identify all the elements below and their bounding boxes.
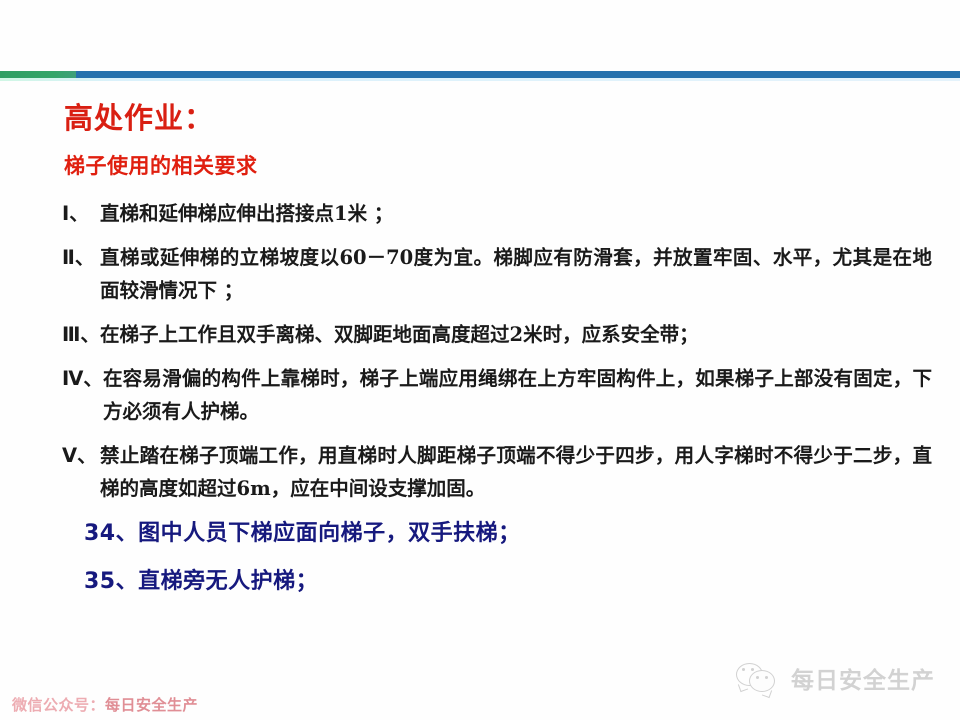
top-divider-rule xyxy=(0,71,960,78)
finding-item-34: 34、图中人员下梯应面向梯子，双手扶梯； xyxy=(84,519,884,549)
list-item-text: 直梯和延伸梯应伸出搭接点1米 ； xyxy=(100,197,932,230)
list-item: Ⅲ、 在梯子上工作且双手离梯、双脚距地面高度超过2米时，应系安全带； xyxy=(62,318,932,351)
wechat-icon-dot xyxy=(756,676,759,679)
wechat-icon xyxy=(736,661,782,695)
watermark: 每日安全生产 xyxy=(736,661,935,695)
list-item-text: 在容易滑偏的构件上靠梯时，梯子上端应用绳绑在上方牢固构件上，如果梯子上部没有固定… xyxy=(103,362,932,428)
list-item-marker: Ⅱ、 xyxy=(62,241,100,274)
list-item-marker: Ⅰ、 xyxy=(62,197,100,230)
divider-blue-segment xyxy=(76,71,960,78)
list-item: Ⅰ、 直梯和延伸梯应伸出搭接点1米 ； xyxy=(62,197,932,230)
list-item-text: 直梯或延伸梯的立梯坡度以60－70度为宜。梯脚应有防滑套，并放置牢固、水平，尤其… xyxy=(100,241,932,307)
list-item-text: 禁止踏在梯子顶端工作，用直梯时人脚距梯子顶端不得少于四步，用人字梯时不得少于二步… xyxy=(100,439,932,505)
wechat-icon-dot xyxy=(742,668,745,671)
list-item-marker: Ⅴ、 xyxy=(62,439,100,472)
footer-credit: 微信公众号：每日安全生产 xyxy=(12,694,198,715)
list-item-marker: Ⅳ、 xyxy=(62,362,103,395)
requirements-list: Ⅰ、 直梯和延伸梯应伸出搭接点1米 ； Ⅱ、 直梯或延伸梯的立梯坡度以60－70… xyxy=(62,197,932,516)
findings-list: 34、图中人员下梯应面向梯子，双手扶梯； 35、直梯旁无人护梯； xyxy=(84,519,884,615)
list-item: Ⅱ、 直梯或延伸梯的立梯坡度以60－70度为宜。梯脚应有防滑套，并放置牢固、水平… xyxy=(62,241,932,307)
footer-credit-label: 微信公众号： xyxy=(12,696,105,714)
divider-glow xyxy=(0,78,960,81)
list-item-text: 在梯子上工作且双手离梯、双脚距地面高度超过2米时，应系安全带； xyxy=(100,318,932,351)
footer-credit-account: 每日安全生产 xyxy=(105,696,198,714)
finding-item-35: 35、直梯旁无人护梯； xyxy=(84,567,884,597)
list-item: Ⅴ、 禁止踏在梯子顶端工作，用直梯时人脚距梯子顶端不得少于四步，用人字梯时不得少… xyxy=(62,439,932,505)
page-title: 高处作业： xyxy=(64,101,214,136)
slide-canvas: 高处作业： 梯子使用的相关要求 Ⅰ、 直梯和延伸梯应伸出搭接点1米 ； Ⅱ、 直… xyxy=(0,0,960,720)
list-item: Ⅳ、 在容易滑偏的构件上靠梯时，梯子上端应用绳绑在上方牢固构件上，如果梯子上部没… xyxy=(62,362,932,428)
wechat-icon-dot xyxy=(765,676,768,679)
page-subtitle: 梯子使用的相关要求 xyxy=(64,154,258,179)
divider-green-segment xyxy=(0,71,76,78)
list-item-marker: Ⅲ、 xyxy=(62,318,100,351)
watermark-account-name: 每日安全生产 xyxy=(791,661,935,695)
wechat-icon-dot xyxy=(751,668,754,671)
wechat-icon-bubble-front xyxy=(749,670,775,692)
